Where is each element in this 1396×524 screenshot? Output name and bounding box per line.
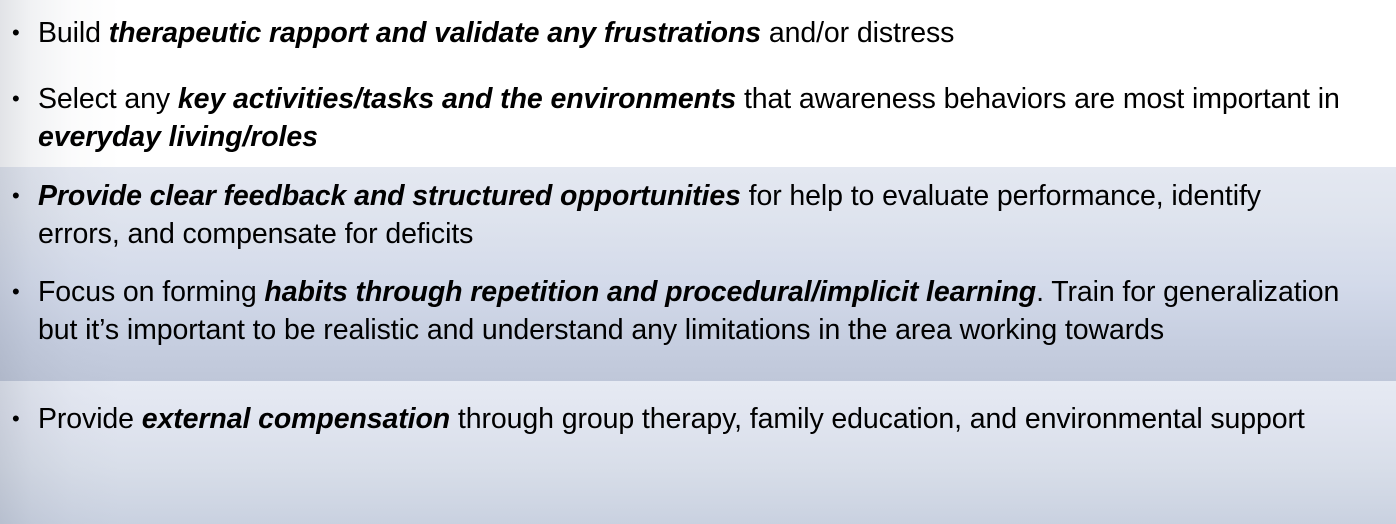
bullet-marker-icon: •: [12, 400, 38, 438]
slide-canvas: •Build therapeutic rapport and validate …: [0, 0, 1396, 524]
bullet-marker-icon: •: [12, 273, 38, 311]
plain-text: and/or distress: [761, 17, 954, 49]
bullet-text: Select any key activities/tasks and the …: [38, 80, 1396, 156]
emphasis-text: therapeutic rapport and validate any fru…: [109, 17, 761, 49]
bullet-text: Build therapeutic rapport and validate a…: [38, 14, 1396, 52]
emphasis-text: everyday living/roles: [38, 121, 318, 153]
plain-text: through group therapy, family education,…: [450, 403, 1305, 435]
plain-text: Focus on forming: [38, 276, 264, 308]
plain-text: Select any: [38, 83, 178, 115]
bullet-external-compensation: •Provide external compensation through g…: [0, 400, 1396, 438]
bullet-key-activities: •Select any key activities/tasks and the…: [0, 80, 1396, 156]
bullet-marker-icon: •: [12, 80, 38, 118]
bullet-marker-icon: •: [12, 14, 38, 52]
plain-text: Build: [38, 17, 109, 49]
emphasis-text: key activities/tasks and the environment…: [178, 83, 736, 115]
bullet-therapeutic-rapport: •Build therapeutic rapport and validate …: [0, 14, 1396, 52]
plain-text: that awareness behaviors are most import…: [736, 83, 1340, 115]
bullet-habits-repetition: •Focus on forming habits through repetit…: [0, 273, 1396, 349]
bullet-list: •Build therapeutic rapport and validate …: [0, 0, 1396, 524]
bullet-clear-feedback: •Provide clear feedback and structured o…: [0, 177, 1396, 253]
bullet-text: Provide external compensation through gr…: [38, 400, 1396, 438]
emphasis-text: Provide clear feedback and structured op…: [38, 180, 741, 212]
emphasis-text: external compensation: [142, 403, 450, 435]
plain-text: Provide: [38, 403, 142, 435]
bullet-text: Provide clear feedback and structured op…: [38, 177, 1396, 253]
bullet-text: Focus on forming habits through repetiti…: [38, 273, 1396, 349]
bullet-marker-icon: •: [12, 177, 38, 215]
emphasis-text: habits through repetition and procedural…: [264, 276, 1036, 308]
